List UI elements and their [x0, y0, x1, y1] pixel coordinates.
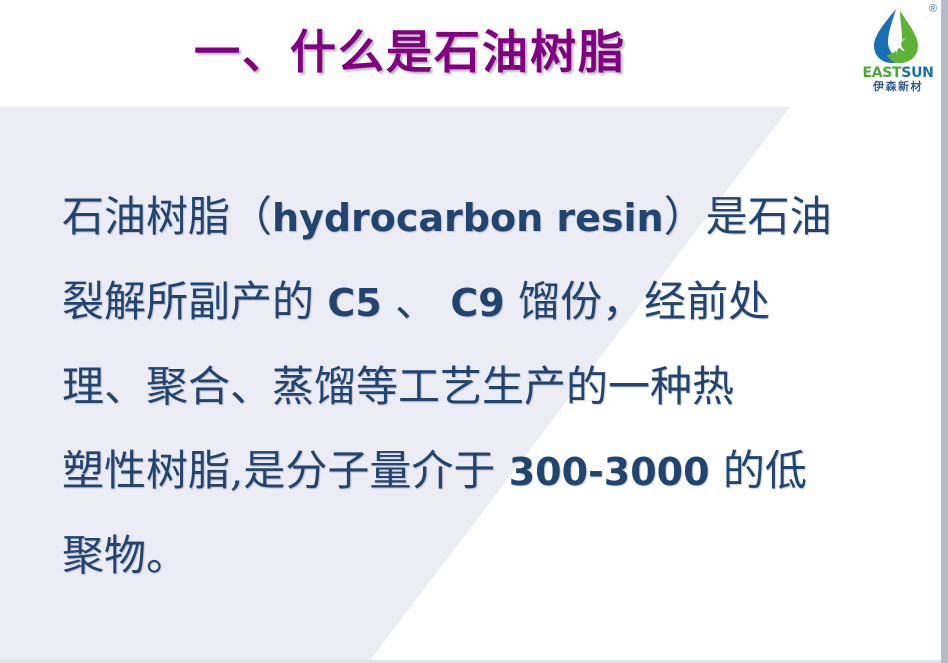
body-text-run: 馏份，经前处 [505, 277, 770, 326]
logo-wordmark: EASTSUN [858, 66, 938, 81]
slide-canvas: 一、什么是石油树脂 ® EASTSUN 伊森新材 石油树脂（hydrocarbo… [0, 0, 948, 663]
registered-trademark-icon: ® [929, 4, 937, 15]
body-latin-term: C5 [327, 281, 381, 325]
body-text-run: ）是石油 [664, 192, 832, 241]
slide-right-border [941, 0, 948, 663]
body-text-run: 聚物。 [62, 531, 188, 580]
body-latin-term: hydrocarbon resin [272, 196, 664, 240]
body-paragraph: 石油树脂（hydrocarbon resin）是石油裂解所副产的 C5 、 C9… [62, 175, 872, 598]
body-text-run: 裂解所副产的 [62, 277, 327, 326]
company-logo: ® EASTSUN 伊森新材 [858, 2, 938, 98]
body-latin-term: 300-3000 [509, 450, 710, 494]
body-line: 塑性树脂,是分子量介于 300-3000 的低 [62, 429, 872, 514]
page-title: 一、什么是石油树脂 [0, 22, 820, 82]
body-line: 聚物。 [62, 514, 872, 598]
logo-word-east: EAST [862, 65, 901, 81]
body-text-run: 石油树脂（ [62, 192, 272, 241]
body-line: 理、聚合、蒸馏等工艺生产的一种热 [62, 345, 872, 429]
body-latin-term: C9 [450, 281, 504, 325]
droplet-leaf-icon [866, 6, 930, 66]
body-text-run: 理、聚合、蒸馏等工艺生产的一种热 [62, 362, 734, 411]
logo-word-sun: SUN [901, 65, 933, 81]
body-text-run: 、 [382, 277, 451, 326]
logo-chinese-name: 伊森新材 [858, 81, 938, 93]
body-line: 石油树脂（hydrocarbon resin）是石油 [62, 175, 872, 260]
body-text-run: 的低 [710, 446, 807, 495]
body-text-run: 塑性树脂,是分子量介于 [62, 446, 509, 495]
body-line: 裂解所副产的 C5 、 C9 馏份，经前处 [62, 260, 872, 345]
